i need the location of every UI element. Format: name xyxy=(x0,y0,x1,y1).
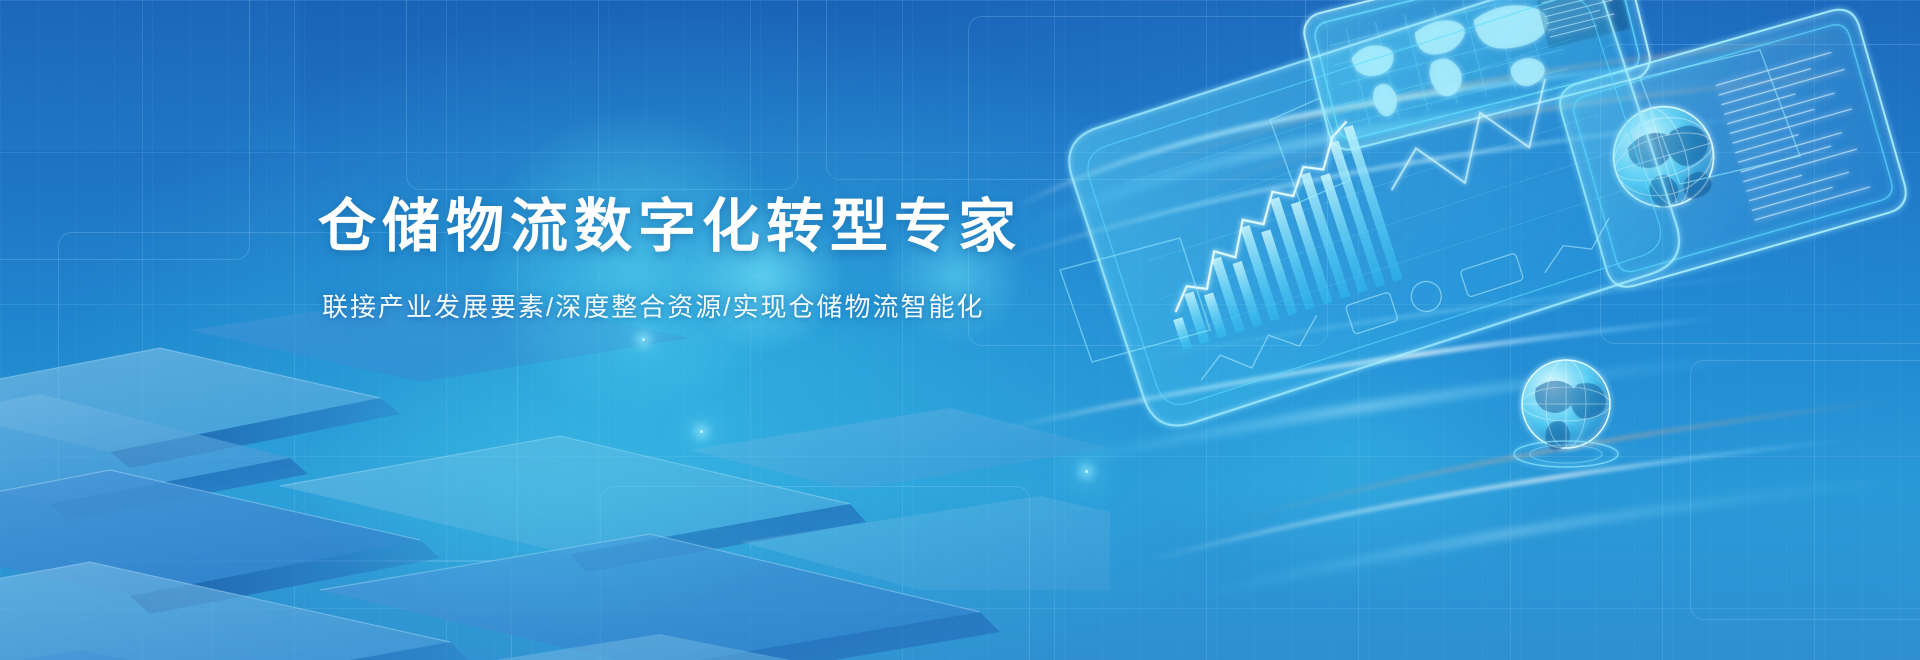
bar xyxy=(1320,173,1367,293)
cyan-glow xyxy=(1140,300,1560,600)
bar xyxy=(1233,261,1263,328)
isometric-tiles-icon xyxy=(0,290,1110,660)
bar xyxy=(1240,225,1280,322)
sparkle-icon xyxy=(1085,470,1088,473)
outline-rect-decor xyxy=(826,0,1306,180)
outline-rect-decor xyxy=(1690,360,1920,620)
noise-overlay xyxy=(0,0,300,150)
outline-rect-decor xyxy=(600,486,1030,660)
bar xyxy=(1344,125,1403,282)
background-fine-grid-icon xyxy=(0,0,1920,660)
bar xyxy=(1329,141,1385,288)
globe-icon xyxy=(1602,95,1726,219)
bar xyxy=(1301,172,1350,299)
banner-copy: 仓储物流数字化转型专家 联接产业发展要素/深度整合资源/实现仓储物流智能化 xyxy=(318,196,1218,324)
outline-rect-decor xyxy=(406,0,798,190)
sparkle-icon xyxy=(642,338,645,341)
light-streak-icon xyxy=(0,0,1920,660)
cyan-glow xyxy=(300,330,820,630)
bar xyxy=(1291,201,1333,304)
background-grid-icon xyxy=(0,0,1920,660)
sparkle-icon xyxy=(700,430,703,433)
page-subtitle: 联接产业发展要素/深度整合资源/实现仓储物流智能化 xyxy=(322,287,1218,324)
bar xyxy=(1261,229,1297,316)
outline-rect-decor xyxy=(212,560,512,660)
outline-rect-decor xyxy=(1600,44,1920,344)
bar xyxy=(1270,197,1315,310)
globe-icon xyxy=(1514,360,1618,467)
hero-banner: ASIA xyxy=(0,0,1920,660)
outline-rect-decor xyxy=(0,0,250,260)
page-title: 仓储物流数字化转型专家 xyxy=(318,196,1218,259)
